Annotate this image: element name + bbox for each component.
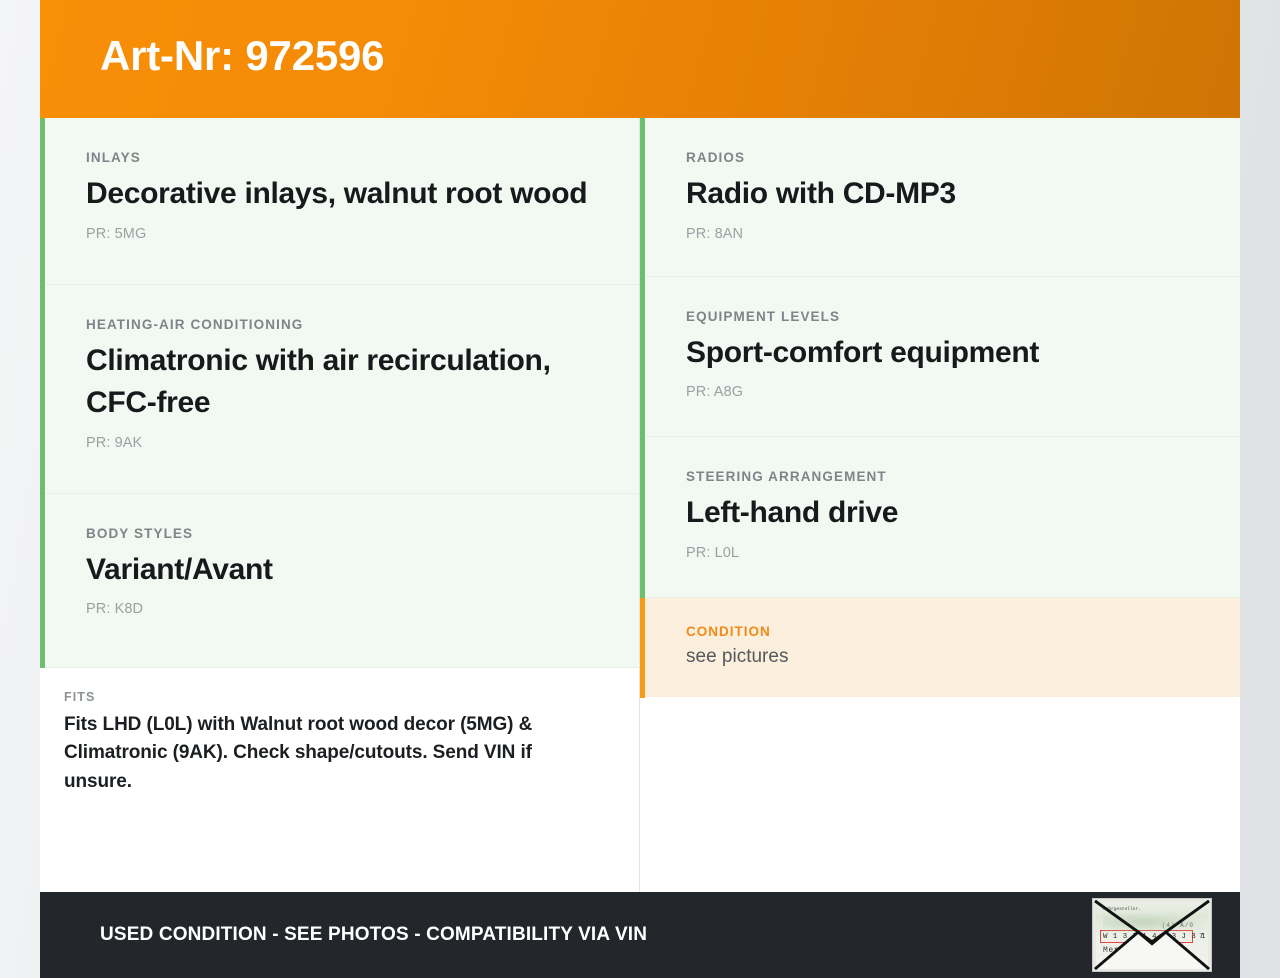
left-column-filler bbox=[40, 822, 639, 892]
page-title: Art-Nr: 972596 bbox=[100, 35, 384, 77]
spec-card-radios[interactable]: RADIOS Radio with CD-MP3 PR: 8AN bbox=[640, 118, 1240, 277]
spec-card-body-styles[interactable]: BODY STYLES Variant/Avant PR: K8D bbox=[40, 494, 639, 669]
right-column: RADIOS Radio with CD-MP3 PR: 8AN EQUIPME… bbox=[640, 118, 1240, 892]
spec-value: Variant/Avant bbox=[86, 549, 593, 592]
spec-card-condition[interactable]: CONDITION see pictures bbox=[640, 598, 1240, 698]
spec-card-heating-air-conditioning[interactable]: HEATING-AIR CONDITIONING Climatronic wit… bbox=[40, 285, 639, 494]
spec-code: PR: 8AN bbox=[686, 226, 1194, 242]
spec-label: INLAYS bbox=[86, 150, 593, 165]
spec-code: PR: 5MG bbox=[86, 226, 593, 242]
spec-label: BODY STYLES bbox=[86, 526, 593, 541]
spec-value: Climatronic with air recirculation, CFC-… bbox=[86, 340, 593, 425]
spec-label: HEATING-AIR CONDITIONING bbox=[86, 317, 593, 332]
spec-label: EQUIPMENT LEVELS bbox=[686, 309, 1194, 324]
spec-value: Left-hand drive bbox=[686, 492, 1194, 535]
left-column: INLAYS Decorative inlays, walnut root wo… bbox=[40, 118, 640, 892]
listing-page: Art-Nr: 972596 INLAYS Decorative inlays,… bbox=[40, 0, 1240, 978]
spec-code: PR: K8D bbox=[86, 601, 593, 617]
condition-label: CONDITION bbox=[686, 624, 1194, 639]
fits-note: FITS Fits LHD (L0L) with Walnut root woo… bbox=[40, 668, 639, 821]
spec-grid: INLAYS Decorative inlays, walnut root wo… bbox=[40, 118, 1240, 892]
footer-banner-text: USED CONDITION - SEE PHOTOS - COMPATIBIL… bbox=[100, 924, 647, 946]
spec-label: STEERING ARRANGEMENT bbox=[686, 469, 1194, 484]
right-column-filler bbox=[640, 697, 1240, 892]
envelope-icon bbox=[1093, 899, 1211, 971]
spec-label: RADIOS bbox=[686, 150, 1194, 165]
spec-code: PR: L0L bbox=[686, 545, 1194, 561]
spec-value: Sport-comfort equipment bbox=[686, 332, 1194, 375]
spec-card-equipment-levels[interactable]: EQUIPMENT LEVELS Sport-comfort equipment… bbox=[640, 277, 1240, 438]
fits-label: FITS bbox=[64, 690, 593, 704]
spec-value: Decorative inlays, walnut root wood bbox=[86, 173, 593, 216]
fits-text: Fits LHD (L0L) with Walnut root wood dec… bbox=[64, 711, 593, 795]
spec-value: Radio with CD-MP3 bbox=[686, 173, 1194, 216]
condition-value: see pictures bbox=[686, 645, 1194, 670]
page-footer: USED CONDITION - SEE PHOTOS - COMPATIBIL… bbox=[40, 892, 1240, 978]
vin-document-thumbnail[interactable]: Fahrgestellnr. (4) A/0 W 1 3 7 1 4 6 3 J… bbox=[1092, 898, 1212, 972]
spec-card-inlays[interactable]: INLAYS Decorative inlays, walnut root wo… bbox=[40, 118, 639, 285]
spec-card-steering-arrangement[interactable]: STEERING ARRANGEMENT Left-hand drive PR:… bbox=[640, 437, 1240, 598]
page-header: Art-Nr: 972596 bbox=[40, 0, 1240, 118]
spec-code: PR: A8G bbox=[686, 384, 1194, 400]
spec-code: PR: 9AK bbox=[86, 435, 593, 451]
